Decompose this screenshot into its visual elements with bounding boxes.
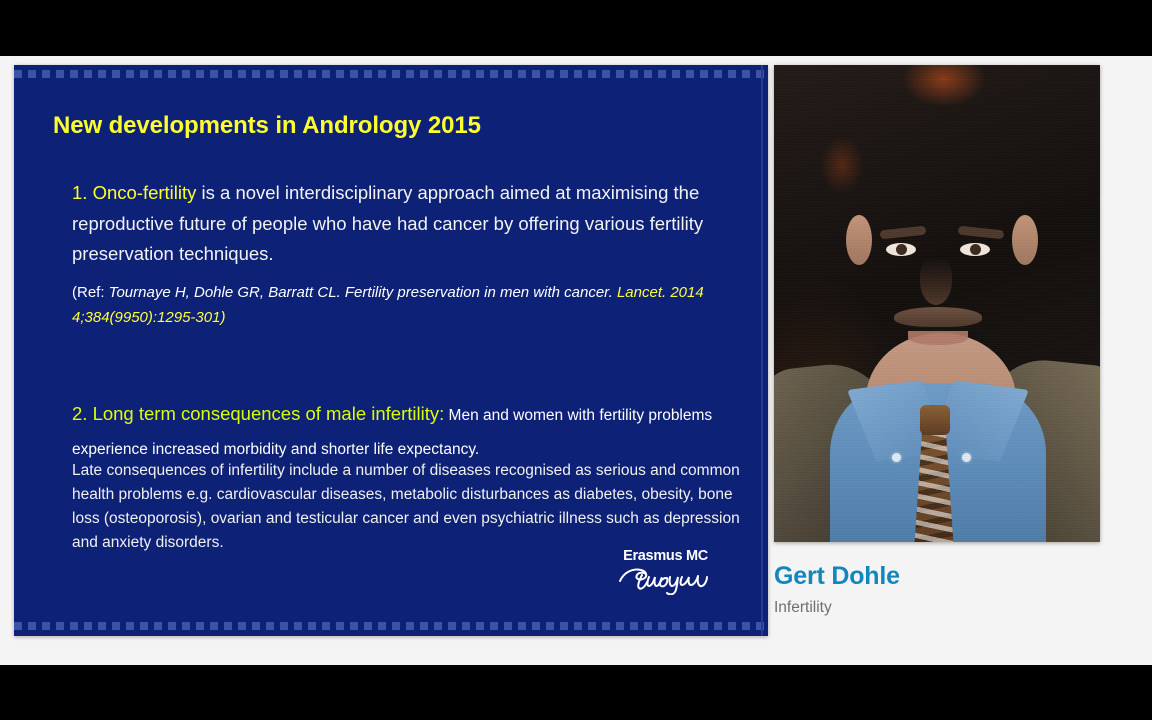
slide-point-2-heading: 2. Long term consequences of male infert… <box>72 398 742 466</box>
point-1-term: 1. Onco-fertility <box>72 182 196 203</box>
erasmus-mc-logo: Erasmus MC <box>608 548 723 600</box>
letterbox-bar-bottom <box>0 665 1152 720</box>
slide-title: New developments in Andrology 2015 <box>53 112 481 140</box>
photo-mouth <box>908 331 968 345</box>
photo-moustache <box>894 307 982 327</box>
reference-citation: Tournaye H, Dohle GR, Barratt CL. Fertil… <box>105 284 613 301</box>
photo-shirt-button <box>962 453 971 462</box>
speaker-panel: Gert Dohle Infertility <box>774 65 1100 617</box>
presentation-slide[interactable]: New developments in Andrology 2015 1. On… <box>14 65 768 636</box>
photo-eye-left <box>886 243 916 256</box>
letterbox-bar-top <box>0 0 1152 56</box>
slide-point-1: 1. Onco-fertility is a novel interdiscip… <box>72 178 732 270</box>
speaker-name: Gert Dohle <box>774 562 1100 591</box>
photo-nose <box>920 257 952 305</box>
slide-reference: (Ref: Tournaye H, Dohle GR, Barratt CL. … <box>72 280 732 330</box>
erasmus-mc-wordmark: Erasmus MC <box>608 548 723 564</box>
photo-eye-right <box>960 243 990 256</box>
presentation-content-area: New developments in Andrology 2015 1. On… <box>0 56 1152 665</box>
slide-decor-band-bottom <box>14 622 768 630</box>
slide-decor-vertical-rule <box>761 65 763 636</box>
reference-lead: (Ref: <box>72 284 105 301</box>
speaker-photo <box>774 65 1100 542</box>
photo-ear-right <box>1012 215 1038 265</box>
photo-ear-left <box>846 215 872 265</box>
point-2-heading-text: 2. Long term consequences of male infert… <box>72 403 444 424</box>
slide-point-2-body: Late consequences of infertility include… <box>72 459 744 555</box>
erasmus-signature-icon <box>608 565 723 600</box>
speaker-topic: Infertility <box>774 599 1100 617</box>
photo-shirt-button <box>892 453 901 462</box>
video-player-stage: New developments in Andrology 2015 1. On… <box>0 0 1152 720</box>
photo-necktie-knot <box>920 405 950 435</box>
slide-decor-band-top <box>14 70 768 78</box>
